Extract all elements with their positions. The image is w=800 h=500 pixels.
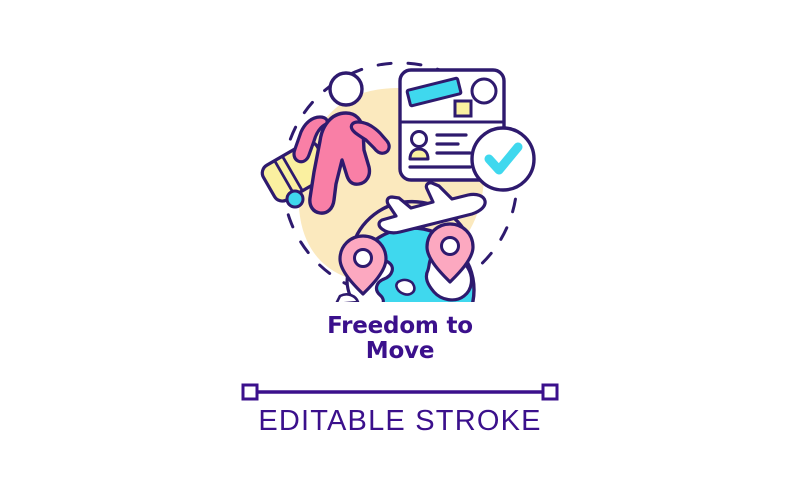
editable-stroke-ruler <box>243 385 557 399</box>
verified-check-badge <box>472 128 534 190</box>
editable-stroke-caption: EDITABLE STROKE <box>0 405 800 438</box>
ruler-left-handle <box>243 385 257 399</box>
illustration-canvas: Freedom to Move EDITABLE STROKE <box>0 0 800 500</box>
page-title: Freedom to Move <box>0 314 800 364</box>
ruler-right-handle <box>543 385 557 399</box>
